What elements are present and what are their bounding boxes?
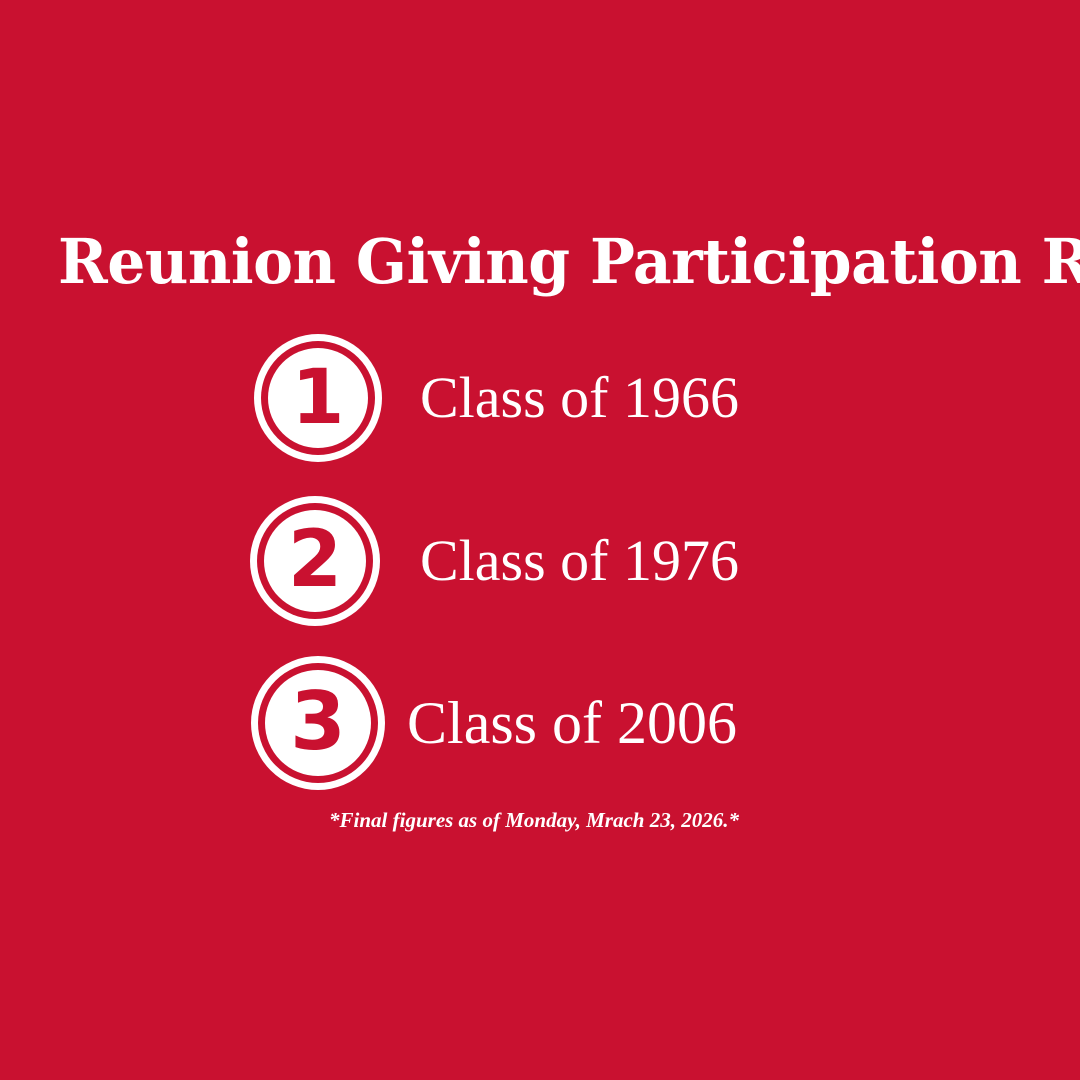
ranking-list: 1 Class of 1966 2 Class of 1976 3 Class … (0, 0, 1080, 1080)
rank-badge-disc: 3 (265, 670, 371, 776)
class-year-label: Class of 2006 (407, 693, 737, 753)
rank-number: 2 (288, 521, 342, 599)
list-item: 2 Class of 1976 (250, 496, 739, 626)
rank-badge-2: 2 (250, 496, 380, 626)
rank-badge-3: 3 (251, 656, 385, 790)
rank-badge-disc: 1 (268, 348, 368, 448)
rank-number: 1 (292, 359, 345, 435)
list-item: 1 Class of 1966 (254, 334, 739, 462)
rank-number: 3 (290, 682, 346, 762)
list-item: 3 Class of 2006 (251, 656, 737, 790)
footnote-text: *Final figures as of Monday, Mrach 23, 2… (0, 808, 1068, 833)
rank-badge-disc: 2 (264, 510, 366, 612)
class-year-label: Class of 1966 (420, 369, 739, 427)
reunion-giving-poster: Reunion Giving Participation Rate 1 Clas… (0, 0, 1080, 1080)
class-year-label: Class of 1976 (420, 532, 739, 590)
rank-badge-1: 1 (254, 334, 382, 462)
